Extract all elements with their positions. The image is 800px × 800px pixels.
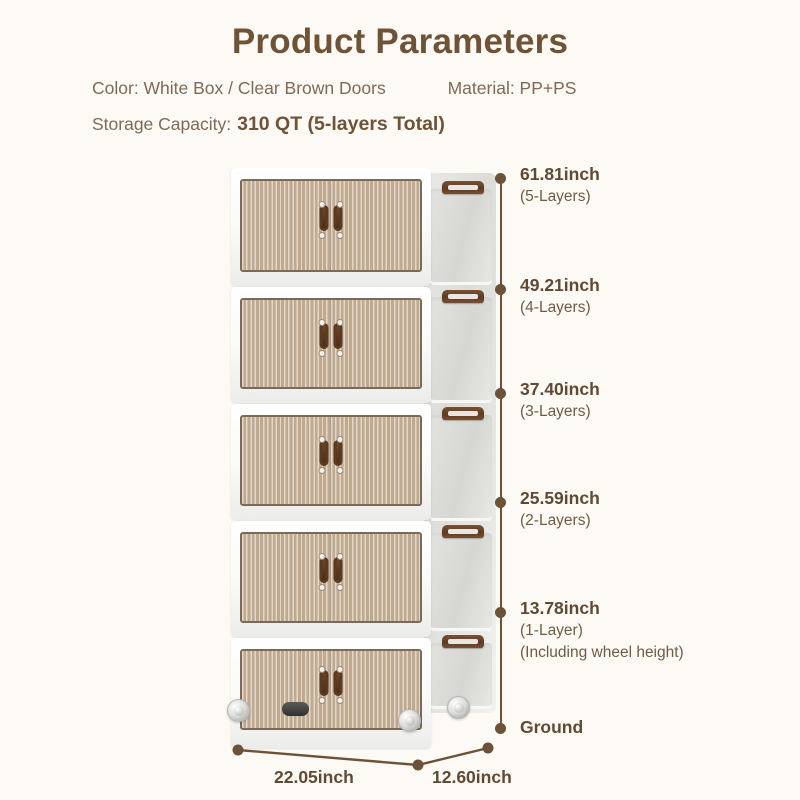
layer-2-doors[interactable] <box>240 532 422 623</box>
layer-3-door-right[interactable] <box>331 417 420 504</box>
color-spec: Color: White Box / Clear Brown Doors <box>92 78 386 98</box>
layer-5-doors[interactable] <box>240 179 422 272</box>
layer-1-door-left[interactable] <box>242 651 331 728</box>
cabinet-layer-4[interactable] <box>231 287 431 403</box>
height-value: 13.78inch <box>520 597 684 620</box>
caster-wheel-side-right <box>447 696 470 719</box>
layer-2-door-left[interactable] <box>242 534 331 621</box>
side-handle-1[interactable] <box>442 635 484 648</box>
height-sub: (2-Layers) <box>520 510 600 532</box>
product-parameters-page: Product Parameters Color: White Box / Cl… <box>0 0 800 800</box>
layer-4-doors[interactable] <box>240 298 422 389</box>
side-handle-3[interactable] <box>442 407 484 420</box>
side-handle-5[interactable] <box>442 181 484 194</box>
height-sub: (3-Layers) <box>520 401 600 423</box>
material-spec: Material: PP+PS <box>448 78 577 98</box>
capacity-value: 310 QT (5-layers Total) <box>237 113 445 135</box>
cabinet-layer-1[interactable] <box>231 638 431 748</box>
page-title: Product Parameters <box>0 22 800 62</box>
side-bin-3 <box>430 415 492 521</box>
side-handle-2[interactable] <box>442 525 484 538</box>
width-measure-line <box>238 748 488 765</box>
cabinet-front <box>231 168 431 718</box>
measure-dot-icon <box>495 723 506 734</box>
caster-wheel-front-left <box>227 699 250 722</box>
layer-5-door-left[interactable] <box>242 181 331 270</box>
height-sub: (5-Layers) <box>520 186 600 208</box>
layer-3-doors[interactable] <box>240 415 422 506</box>
height-value: 49.21inch <box>520 274 600 297</box>
layer-4-door-handle-icon[interactable] <box>320 321 343 355</box>
side-bin-5 <box>430 189 492 285</box>
layer-4-door-right[interactable] <box>331 300 420 387</box>
height-sub: (1-Layer) <box>520 620 684 642</box>
cabinet-side-panel <box>424 173 496 713</box>
height-value: 25.59inch <box>520 487 600 510</box>
cabinet-layer-2[interactable] <box>231 521 431 637</box>
spec-row-capacity: Storage Capacity:310 QT (5-layers Total) <box>92 113 445 136</box>
height-value: 61.81inch <box>520 163 600 186</box>
measure-dot-icon <box>495 497 506 508</box>
caster-wheel-front-right <box>398 709 421 732</box>
height-measurement-rail: 61.81inch (5-Layers) 49.21inch (4-Layers… <box>500 178 502 728</box>
measure-dot-icon <box>483 743 494 754</box>
caster-wheel-rear-left <box>282 702 309 716</box>
measure-dot-icon <box>495 173 506 184</box>
measure-dot-icon <box>495 607 506 618</box>
height-sub: (4-Layers) <box>520 297 600 319</box>
cabinet-layer-5[interactable] <box>231 168 431 286</box>
width-label-front: 22.05inch <box>274 767 354 788</box>
product-image-storage-cabinet <box>231 168 496 718</box>
capacity-label: Storage Capacity: <box>92 114 231 134</box>
cabinet-layer-3[interactable] <box>231 404 431 520</box>
side-handle-4[interactable] <box>442 290 484 303</box>
layer-1-doors[interactable] <box>240 649 422 730</box>
layer-5-door-handle-icon[interactable] <box>320 203 343 237</box>
ground-label: Ground <box>520 716 583 739</box>
width-label-depth: 12.60inch <box>432 767 512 788</box>
layer-4-door-left[interactable] <box>242 300 331 387</box>
layer-1-door-handle-icon[interactable] <box>320 668 343 702</box>
layer-5-door-right[interactable] <box>331 181 420 270</box>
height-sub-2: (Including wheel height) <box>520 642 684 664</box>
spec-row-color-material: Color: White Box / Clear Brown Doors Mat… <box>92 78 732 99</box>
layer-3-door-handle-icon[interactable] <box>320 438 343 472</box>
side-bin-2 <box>430 533 492 631</box>
measure-dot-icon <box>413 760 424 771</box>
measure-dot-icon <box>495 284 506 295</box>
side-bin-4 <box>430 297 492 403</box>
layer-3-door-left[interactable] <box>242 417 331 504</box>
layer-2-door-handle-icon[interactable] <box>320 555 343 589</box>
height-value: 37.40inch <box>520 378 600 401</box>
measure-dot-icon <box>495 388 506 399</box>
layer-2-door-right[interactable] <box>331 534 420 621</box>
